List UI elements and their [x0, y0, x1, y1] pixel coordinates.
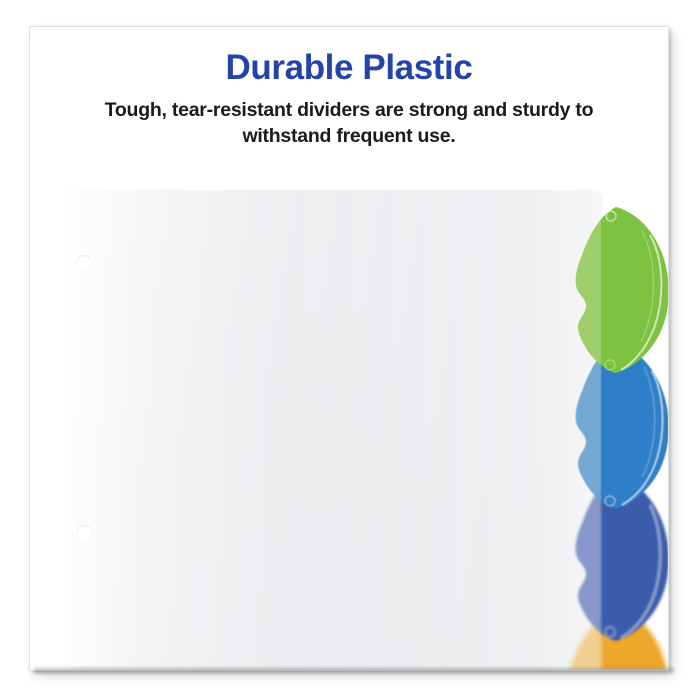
punch-hole-top [77, 255, 92, 270]
product-image-card: Durable Plastic Tough, tear-resistant di… [30, 27, 668, 670]
page-title: Durable Plastic [30, 48, 668, 87]
headline-block: Durable Plastic Tough, tear-resistant di… [30, 27, 668, 149]
sheet-sheen-overlay [64, 190, 601, 670]
page-subtitle: Tough, tear-resistant dividers are stron… [66, 97, 632, 149]
divider-sheet [64, 190, 601, 670]
punch-hole-bottom [77, 525, 92, 540]
screenshot-stage: Durable Plastic Tough, tear-resistant di… [0, 0, 700, 700]
card-drop-shadow [34, 668, 674, 675]
